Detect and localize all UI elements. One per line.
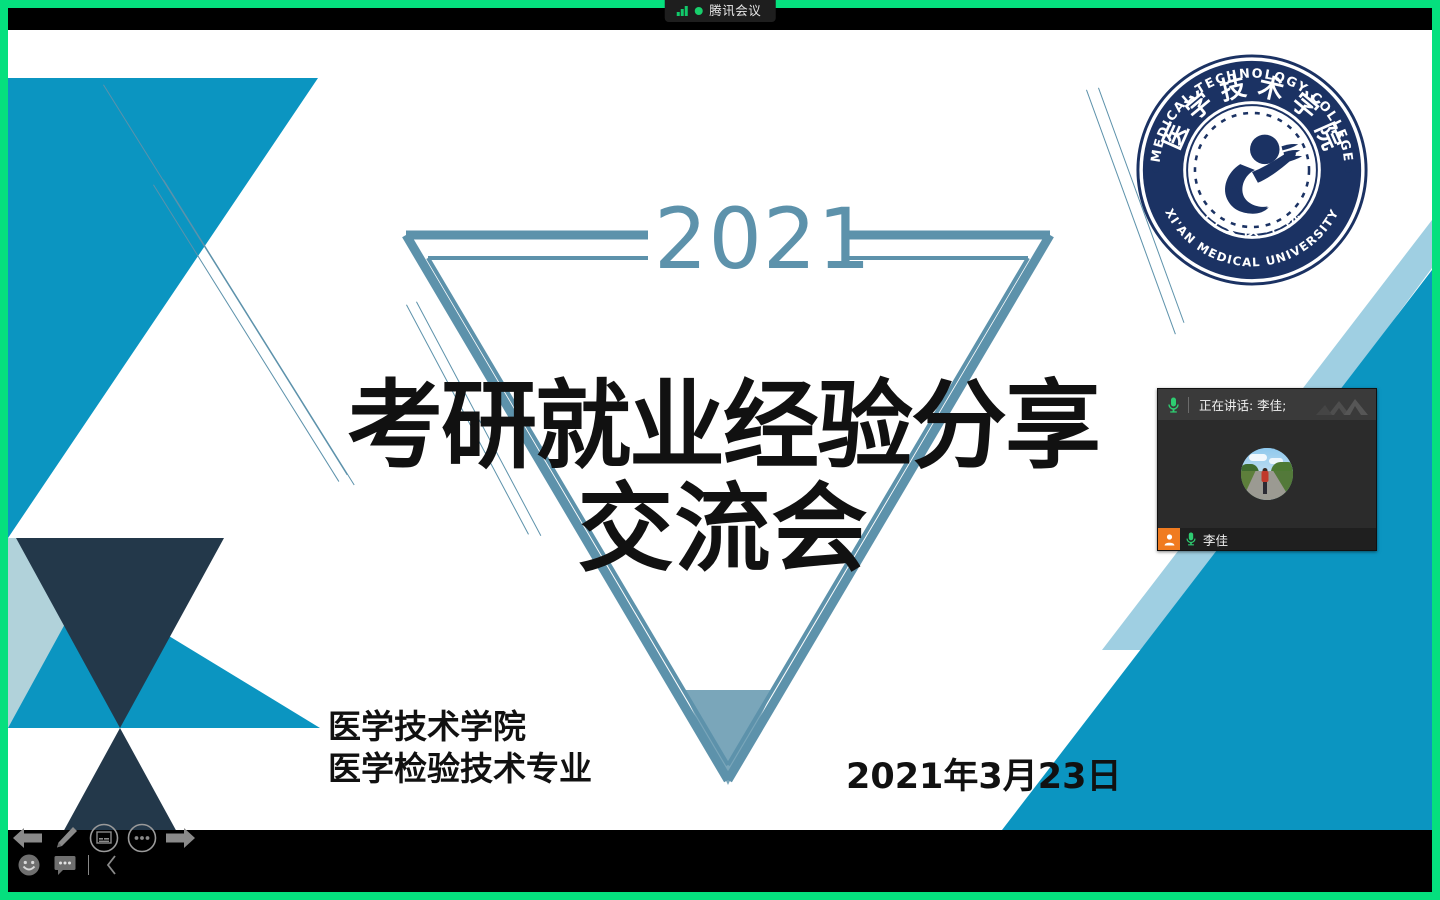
decor-triangle-navy-middle bbox=[16, 538, 224, 728]
video-thumbnail-panel[interactable]: 正在讲话: 李佳; bbox=[1157, 388, 1377, 551]
letterbox-bottom bbox=[8, 830, 1432, 892]
slide-title-line1: 考研就业经验分享 bbox=[308, 378, 1138, 476]
chevron-left-icon[interactable] bbox=[99, 852, 125, 878]
org-major: 医学检验技术专业 bbox=[328, 748, 592, 790]
video-panel-body bbox=[1158, 420, 1376, 528]
slide-title-block: 考研就业经验分享 交流会 bbox=[308, 378, 1138, 583]
video-panel-header: 正在讲话: 李佳; bbox=[1158, 389, 1376, 420]
microphone-icon[interactable] bbox=[1180, 532, 1202, 546]
microphone-icon bbox=[1158, 397, 1188, 413]
arrow-left-icon[interactable] bbox=[12, 822, 44, 854]
person-icon bbox=[1158, 528, 1180, 550]
screen-share-view: 2021 bbox=[0, 0, 1440, 900]
speaking-label: 正在讲话: 李佳; bbox=[1199, 395, 1286, 414]
slide-organization: 医学技术学院 医学检验技术专业 bbox=[328, 706, 592, 790]
avatar bbox=[1241, 448, 1293, 500]
signal-bars-icon bbox=[677, 6, 688, 16]
decor-triangle-teal-top bbox=[8, 78, 318, 538]
chevrons-icon bbox=[1314, 393, 1372, 420]
presenter-subtoolbar bbox=[16, 852, 125, 878]
meeting-app-name: 腾讯会议 bbox=[709, 5, 761, 18]
slide-title-line2: 交流会 bbox=[308, 476, 1138, 584]
arrow-right-icon[interactable] bbox=[164, 822, 196, 854]
header-divider bbox=[1188, 397, 1189, 413]
decor-triangle-navy-bottom bbox=[16, 728, 224, 830]
screen-share-border-left bbox=[0, 0, 8, 900]
ellipsis-circle-icon[interactable] bbox=[126, 822, 158, 854]
org-college: 医学技术学院 bbox=[328, 706, 592, 748]
slide-date: 2021年3月23日 bbox=[846, 748, 1121, 799]
tencent-meeting-pill[interactable]: 腾讯会议 bbox=[665, 0, 776, 22]
chat-bubble-icon[interactable] bbox=[52, 852, 78, 878]
university-seal-logo: MEDICAL TECHNOLOGY COLLEGE XI'AN MEDICAL… bbox=[1134, 52, 1370, 288]
presenter-toolbar bbox=[8, 822, 200, 854]
subtoolbar-divider bbox=[88, 855, 89, 875]
video-panel-footer: 李佳 bbox=[1158, 528, 1376, 550]
smiley-icon[interactable] bbox=[16, 852, 42, 878]
screen-share-border-right bbox=[1432, 0, 1440, 900]
pen-icon[interactable] bbox=[50, 822, 82, 854]
participant-name: 李佳 bbox=[1203, 530, 1228, 549]
green-dot-icon bbox=[694, 7, 702, 15]
screen-share-border-bottom bbox=[0, 892, 1440, 900]
slides-icon[interactable] bbox=[88, 822, 120, 854]
slide-year: 2021 bbox=[648, 195, 848, 283]
